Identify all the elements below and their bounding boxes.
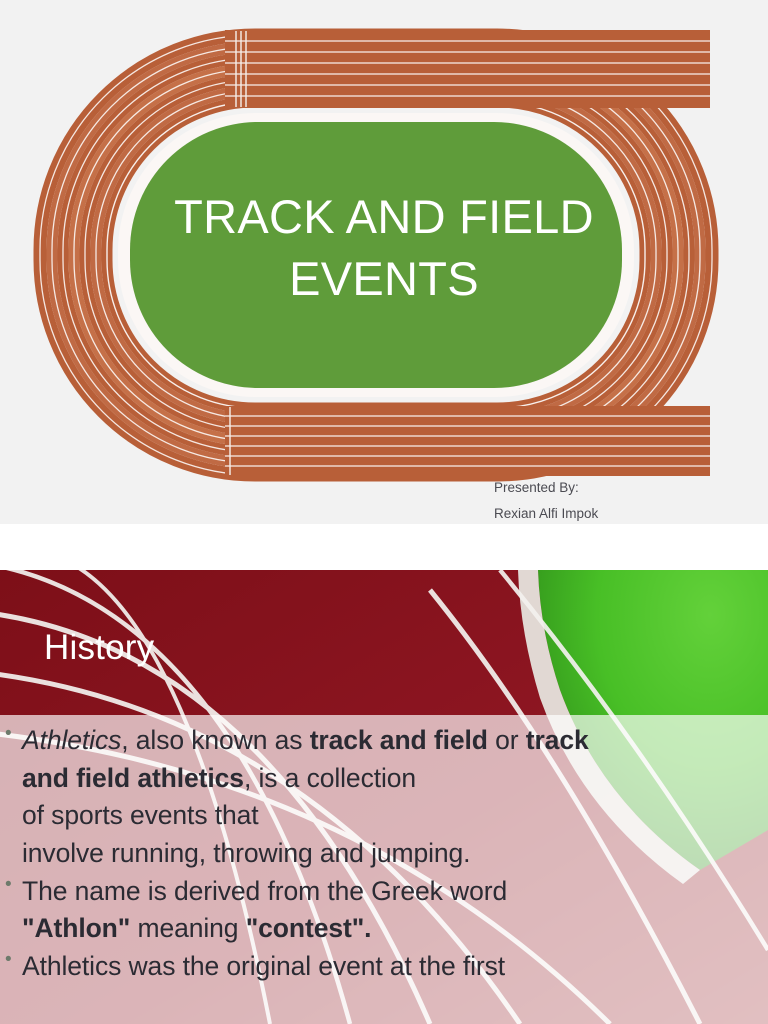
presenter-name: Rexian Alfi Impok [494,501,598,524]
title-slide: TRACK AND FIELD EVENTS Presented By: Rex… [0,0,768,524]
section-heading: History [44,630,154,665]
slides-page: TRACK AND FIELD EVENTS Presented By: Rex… [0,0,768,1024]
text-run: , also known as [121,725,309,755]
list-item-continuation: involve running, throwing and jumping. [0,835,768,873]
text-run: involve running, throwing and jumping. [22,838,470,868]
list-item: The name is derived from the Greek word [0,873,768,911]
history-body-text: Athletics, also known as track and field… [0,722,768,985]
title-line-2: EVENTS [130,248,638,310]
text-run: , is a collection [244,763,416,793]
list-item-continuation: of sports events that [0,797,768,835]
track-top-straight [225,30,710,108]
presented-by-label: Presented By: [494,475,598,501]
text-run: track [526,725,589,755]
track-bottom-straight [225,406,710,476]
text-run: Athletics [22,725,121,755]
text-run: "Athlon" [22,913,130,943]
text-run: or [488,725,526,755]
list-item-continuation: "Athlon" meaning "contest". [0,910,768,948]
list-item: Athletics, also known as track and field… [0,722,768,760]
slide-gap [0,524,768,570]
text-run: Athletics was the original event at the … [22,951,505,981]
list-item: Athletics was the original event at the … [0,948,768,986]
text-run: of sports events that [22,800,259,830]
text-run: track and field [310,725,488,755]
list-item-continuation: and field athletics, is a collection [0,760,768,798]
presenter-credit: Presented By: Rexian Alfi Impok [494,475,598,524]
page-title: TRACK AND FIELD EVENTS [130,186,638,310]
title-line-1: TRACK AND FIELD [130,186,638,248]
text-run: The name is derived from the Greek word [22,876,507,906]
text-run: "contest". [246,913,372,943]
text-run: and field athletics [22,763,244,793]
text-run: meaning [130,913,245,943]
